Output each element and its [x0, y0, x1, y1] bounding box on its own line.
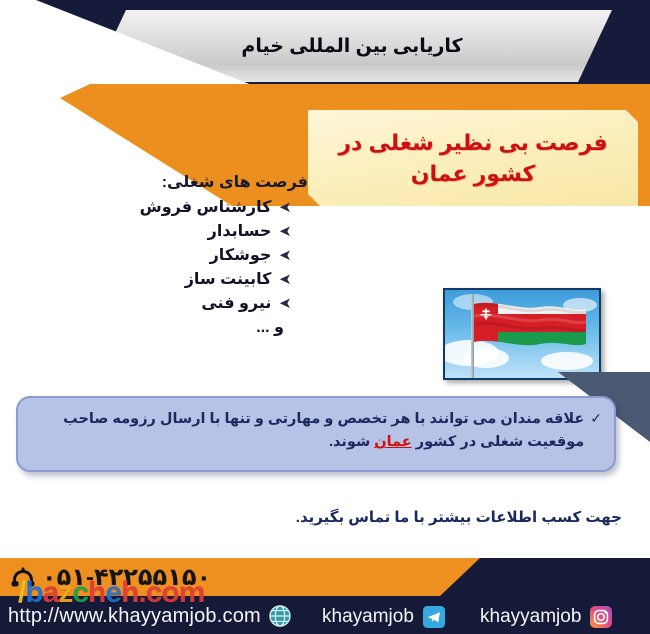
footer-phone[interactable]: ۰۵۱-۴۲۲۵۵۱۵۰	[10, 563, 211, 592]
poster-root: کاریابی بین المللی خیام فرصت بی نظیر شغل…	[0, 0, 650, 634]
arrow-bullet-icon: ➤	[279, 248, 292, 263]
telegram-handle: khayamjob	[322, 606, 414, 628]
telegram-icon	[423, 606, 445, 628]
job-label: حسابدار	[208, 221, 272, 241]
description-box: ✓ علاقه مندان می توانند با هر تخصص و مها…	[16, 396, 616, 472]
job-list: فرصت های شغلی: ➤ کارشناس فروش ➤ حسابدار …	[60, 172, 310, 337]
job-label: کابینت ساز	[185, 269, 272, 289]
arrow-bullet-icon: ➤	[279, 224, 292, 239]
list-item: ➤ حسابدار	[60, 221, 310, 241]
list-item: ➤ جوشکار	[60, 245, 310, 265]
job-list-more: و ...	[60, 317, 310, 337]
job-label: کارشناس فروش	[140, 197, 272, 217]
oman-flag-frame	[443, 288, 601, 380]
oman-flag-image	[445, 290, 599, 378]
instagram-handle: khayyamjob	[480, 606, 581, 628]
arrow-bullet-icon: ➤	[279, 272, 292, 287]
arrow-bullet-icon: ➤	[279, 200, 292, 215]
list-item: ➤ نیرو فنی	[60, 293, 310, 313]
contact-cta-text: جهت کسب اطلاعات بیشتر با ما تماس بگیرید.	[296, 508, 622, 526]
footer-website[interactable]: http://www.khayyamjob.com	[8, 604, 292, 628]
phone-number: ۰۵۱-۴۲۲۵۵۱۵۰	[42, 563, 211, 592]
footer-instagram[interactable]: khayyamjob	[480, 606, 612, 628]
description-highlight-country: عمان	[374, 434, 411, 450]
description-text-before: علاقه مندان می توانند با هر تخصص و مهارت…	[63, 411, 584, 450]
oman-flag-cloth	[474, 302, 586, 356]
list-item: ➤ کارشناس فروش	[60, 197, 310, 217]
arrow-bullet-icon: ➤	[279, 296, 292, 311]
title-line-2: کشور عمان	[411, 158, 536, 189]
instagram-icon	[590, 606, 612, 628]
website-url: http://www.khayyamjob.com	[8, 605, 261, 628]
telephone-icon	[10, 566, 36, 590]
description-text-after: شوند.	[329, 434, 374, 450]
title-card: فرصت بی نظیر شغلی در کشور عمان	[308, 110, 638, 206]
job-list-heading: فرصت های شغلی:	[60, 172, 310, 192]
globe-icon	[268, 604, 292, 628]
agency-name: کاریابی بین المللی خیام	[241, 35, 462, 58]
title-line-1: فرصت بی نظیر شغلی در	[338, 127, 607, 158]
list-item: ➤ کابینت ساز	[60, 269, 310, 289]
job-label: نیرو فنی	[201, 293, 271, 313]
job-label: جوشکار	[210, 245, 272, 265]
description-text: علاقه مندان می توانند با هر تخصص و مهارت…	[32, 408, 584, 455]
checkmark-icon: ✓	[590, 408, 602, 430]
footer-telegram[interactable]: khayamjob	[322, 606, 445, 628]
